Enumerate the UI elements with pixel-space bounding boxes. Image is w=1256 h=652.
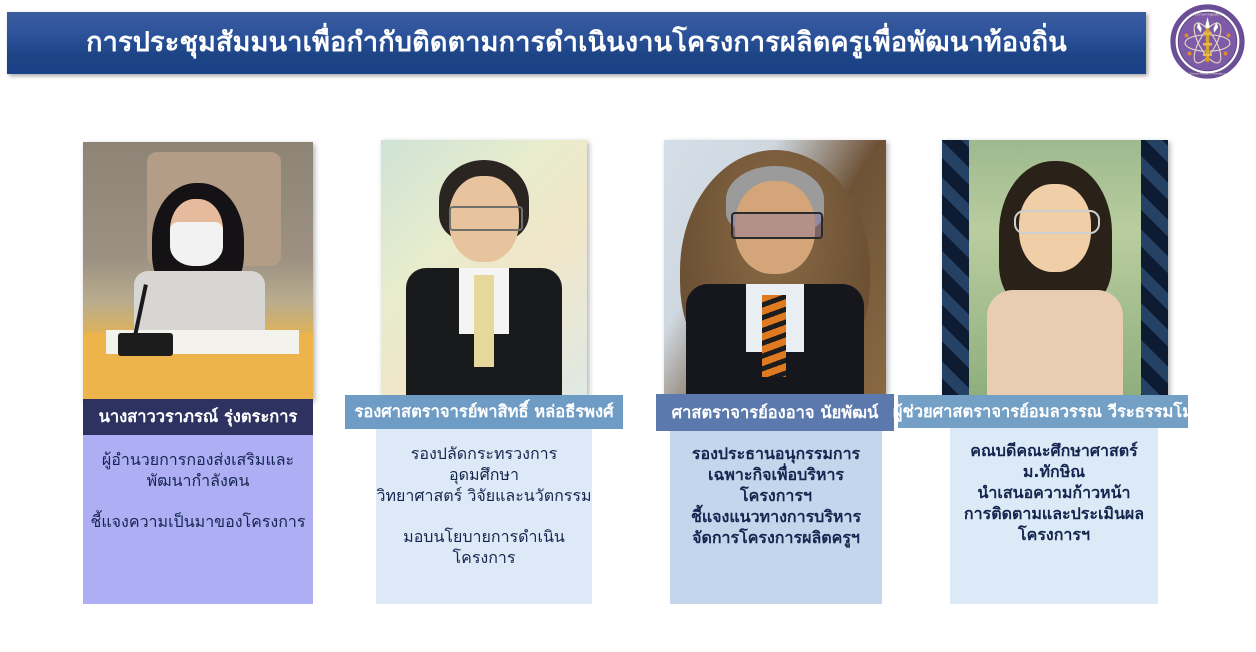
speaker-details-2: รองปลัดกระทรวงการอุดมศึกษา วิทยาศาสตร์ ว… bbox=[376, 429, 592, 604]
speaker-name-bar-3: ศาสตราจารย์องอาจ นัยพัฒน์ bbox=[656, 394, 894, 431]
speaker-name-4: ผู้ช่วยศาสตราจารย์อมลวรรณ วีระธรรมโม bbox=[893, 399, 1193, 425]
speaker-details-1: ผู้อำนวยการกองส่งเสริมและ พัฒนากำลังคน ช… bbox=[83, 435, 313, 604]
speaker-role-line: นำเสนอความก้าวหน้า bbox=[977, 482, 1130, 503]
speaker-role-line: มอบนโยบายการดำเนินโครงการ bbox=[376, 526, 592, 568]
speaker-name-2: รองศาสตราจารย์พาสิทธิ์ หล่อธีรพงศ์ bbox=[354, 399, 613, 425]
speaker-card-4: ผู้ช่วยศาสตราจารย์อมลวรรณ วีระธรรมโม คณบ… bbox=[938, 140, 1172, 604]
speaker-position-line: ผู้อำนวยการกองส่งเสริมและ bbox=[102, 449, 294, 470]
speaker-role-line: โครงการฯ bbox=[1018, 524, 1090, 545]
page-title: การประชุมสัมมนาเพื่อกำกับติดตามการดำเนิน… bbox=[86, 28, 1067, 58]
speaker-role-line: จัดการโครงการผลิตครูฯ bbox=[692, 527, 860, 548]
speaker-photo-3 bbox=[664, 140, 886, 398]
speaker-name-bar-2: รองศาสตราจารย์พาสิทธิ์ หล่อธีรพงศ์ bbox=[345, 395, 623, 429]
speaker-name-bar-1: นางสาววราภรณ์ รุ่งตระการ bbox=[83, 399, 313, 435]
speaker-position-line: รองปลัดกระทรวงการอุดมศึกษา bbox=[376, 443, 592, 485]
speaker-photo-4 bbox=[942, 140, 1168, 398]
speaker-position-line: รองประธานอนุกรรมการ bbox=[692, 443, 860, 464]
speaker-name-3: ศาสตราจารย์องอาจ นัยพัฒน์ bbox=[672, 400, 879, 426]
speaker-card-1: นางสาววราภรณ์ รุ่งตระการ ผู้อำนวยการกองส… bbox=[83, 142, 313, 604]
speaker-card-3: ศาสตราจารย์องอาจ นัยพัฒน์ รองประธานอนุกร… bbox=[660, 140, 890, 604]
speaker-card-2: รองศาสตราจารย์พาสิทธิ์ หล่อธีรพงศ์ รองปล… bbox=[367, 140, 601, 604]
header-bar: การประชุมสัมมนาเพื่อกำกับติดตามการดำเนิน… bbox=[7, 12, 1146, 74]
slide-canvas: การประชุมสัมมนาเพื่อกำกับติดตามการดำเนิน… bbox=[0, 0, 1256, 652]
speaker-name-1: นางสาววราภรณ์ รุ่งตระการ bbox=[99, 404, 298, 430]
speaker-name-bar-4: ผู้ช่วยศาสตราจารย์อมลวรรณ วีระธรรมโม bbox=[898, 395, 1188, 428]
ministry-seal-logo: กระทรวงการอุดมศึกษา Science Research Inn… bbox=[1170, 4, 1245, 79]
speaker-position-line: คณบดีคณะศึกษาศาสตร์ bbox=[970, 440, 1138, 461]
speaker-position-line: โครงการฯ bbox=[740, 485, 812, 506]
speaker-photo-1 bbox=[83, 142, 313, 400]
speaker-role-line: ชี้แจงความเป็นมาของโครงการ bbox=[91, 511, 306, 532]
speaker-position-line: วิทยาศาสตร์ วิจัยและนวัตกรรม bbox=[376, 485, 591, 506]
speaker-position-line: ม.ทักษิณ bbox=[1023, 461, 1085, 482]
speaker-position-line: พัฒนากำลังคน bbox=[147, 470, 250, 491]
speaker-details-3: รองประธานอนุกรรมการ เฉพาะกิจเพื่อบริหาร … bbox=[670, 431, 882, 604]
speaker-photo-2 bbox=[381, 140, 587, 395]
svg-text:Science Research Innovation: Science Research Innovation bbox=[1190, 72, 1226, 76]
speaker-role-line: การติดตามและประเมินผล bbox=[964, 503, 1144, 524]
speaker-position-line: เฉพาะกิจเพื่อบริหาร bbox=[708, 464, 844, 485]
speaker-details-4: คณบดีคณะศึกษาศาสตร์ ม.ทักษิณ นำเสนอความก… bbox=[950, 428, 1158, 604]
speaker-role-line: ชี้แจงแนวทางการบริหาร bbox=[691, 506, 861, 527]
